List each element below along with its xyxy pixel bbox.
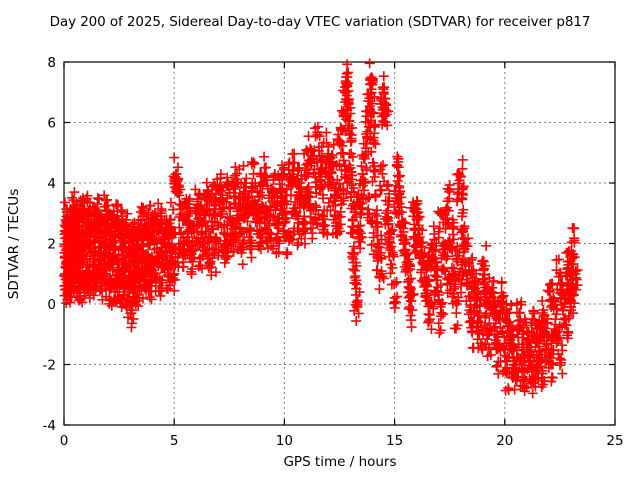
x-tick-label: 5 (170, 433, 179, 449)
x-tick-label: 20 (496, 433, 513, 449)
x-tick-label: 15 (386, 433, 403, 449)
y-tick-label: -4 (43, 418, 56, 434)
chart-figure: Day 200 of 2025, Sidereal Day-to-day VTE… (0, 0, 640, 480)
x-tick-label: 25 (606, 433, 623, 449)
x-tick-label: 0 (60, 433, 69, 449)
y-tick-label: 0 (47, 297, 56, 313)
y-tick-label: -2 (43, 358, 56, 374)
x-tick-label: 10 (276, 433, 293, 449)
y-tick-label: 4 (47, 176, 56, 192)
y-tick-label: 8 (47, 55, 56, 71)
x-axis-title: GPS time / hours (283, 454, 396, 470)
data-series-sdtvar (59, 58, 583, 398)
scatter-plot: 0510152025 -4-202468 GPS time / hours SD… (0, 0, 640, 480)
y-tick-labels: -4-202468 (43, 55, 56, 434)
y-tick-label: 6 (47, 116, 56, 132)
y-axis-title: SDTVAR / TECUs (6, 189, 22, 299)
x-tick-labels: 0510152025 (60, 433, 624, 449)
y-tick-label: 2 (47, 237, 56, 253)
